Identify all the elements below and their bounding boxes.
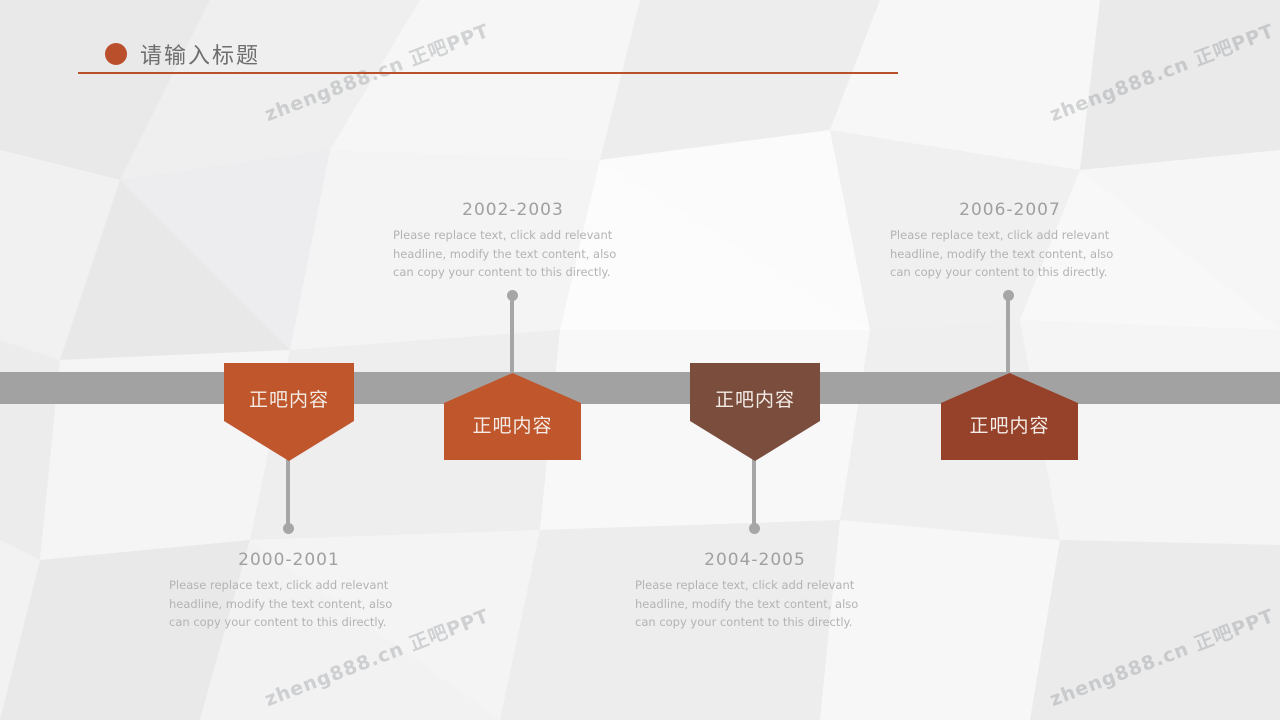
connector-line-node-1: [286, 458, 290, 530]
connector-dot-node-4: [1003, 290, 1014, 301]
info-body-node-2: Please replace text, click add relevant …: [393, 226, 633, 282]
timeline-shape-label-node-1: 正吧内容: [224, 385, 354, 412]
info-year-node-1: 2000-2001: [169, 550, 409, 570]
slide-canvas: zheng888.cn 正吧PPT zheng888.cn 正吧PPT zhen…: [0, 0, 1280, 720]
timeline-shape-node-4[interactable]: 正吧内容: [941, 373, 1078, 460]
connector-dot-node-1: [283, 523, 294, 534]
timeline-shape-node-1[interactable]: 正吧内容: [224, 363, 354, 461]
connector-line-node-2: [510, 296, 514, 374]
connector-line-node-3: [752, 458, 756, 530]
timeline-bar: [0, 372, 1280, 404]
info-block-node-1: 2000-2001 Please replace text, click add…: [169, 550, 409, 632]
timeline-shape-label-node-2: 正吧内容: [444, 411, 581, 438]
info-body-node-3: Please replace text, click add relevant …: [635, 576, 875, 632]
info-block-node-4: 2006-2007 Please replace text, click add…: [890, 200, 1130, 282]
info-year-node-2: 2002-2003: [393, 200, 633, 220]
connector-dot-node-2: [507, 290, 518, 301]
connector-dot-node-3: [749, 523, 760, 534]
connector-line-node-4: [1006, 296, 1010, 374]
page-title: 请输入标题: [140, 38, 260, 70]
title-block: 请输入标题: [78, 36, 908, 78]
info-body-node-4: Please replace text, click add relevant …: [890, 226, 1130, 282]
title-underline: [78, 72, 898, 74]
timeline-shape-node-3[interactable]: 正吧内容: [690, 363, 820, 461]
info-block-node-3: 2004-2005 Please replace text, click add…: [635, 550, 875, 632]
timeline-shape-node-2[interactable]: 正吧内容: [444, 373, 581, 460]
info-year-node-4: 2006-2007: [890, 200, 1130, 220]
info-body-node-1: Please replace text, click add relevant …: [169, 576, 409, 632]
title-bullet-icon: [105, 43, 127, 65]
info-year-node-3: 2004-2005: [635, 550, 875, 570]
timeline-shape-label-node-4: 正吧内容: [941, 411, 1078, 438]
timeline-shape-label-node-3: 正吧内容: [690, 385, 820, 412]
info-block-node-2: 2002-2003 Please replace text, click add…: [393, 200, 633, 282]
